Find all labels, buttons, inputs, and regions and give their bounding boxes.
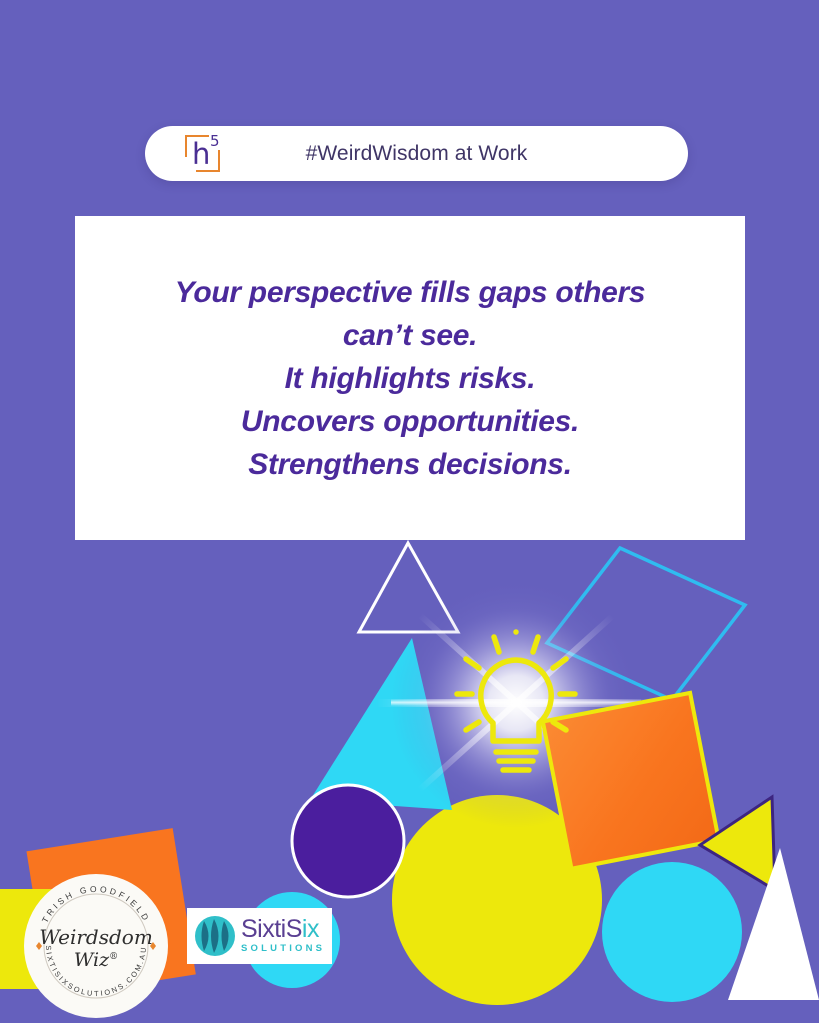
quote-line-1: Your perspective fills gaps others xyxy=(110,271,710,314)
sixtisix-name-tail: ix xyxy=(302,915,319,943)
poster-canvas: h 5 #WeirdWisdom at Work Your perspectiv… xyxy=(0,0,819,1023)
sixtisix-name: SixtiSix xyxy=(241,917,325,942)
cyan-circle xyxy=(602,862,742,1002)
sixtisix-wordmark: SixtiSix SOLUTIONS xyxy=(241,917,325,955)
sixtisix-solutions-logo[interactable]: SixtiSix SOLUTIONS xyxy=(187,908,332,964)
header-pill[interactable]: h 5 #WeirdWisdom at Work xyxy=(145,126,688,181)
sixtisix-name-head: SixtiS xyxy=(241,915,302,943)
badge-script-line-1: Weirdsdom xyxy=(39,925,153,949)
quote-line-4: Uncovers opportunities. xyxy=(110,400,710,443)
sixtisix-wave-icon xyxy=(192,914,238,958)
h5-brand-logo-icon: h 5 xyxy=(183,134,229,174)
sixtisix-subtitle: SOLUTIONS xyxy=(241,943,325,955)
quote-line-5: Strengthens decisions. xyxy=(110,443,710,486)
logo-superscript-5: 5 xyxy=(210,134,220,149)
deep-purple-circle xyxy=(292,785,404,897)
logo-letter-h: h xyxy=(192,136,210,172)
orange-rotated-square xyxy=(543,693,719,869)
quote-text: Your perspective fills gaps others can’t… xyxy=(110,271,710,486)
bulb-glow-ray-v xyxy=(391,699,641,706)
quote-card: Your perspective fills gaps others can’t… xyxy=(75,216,745,540)
quote-line-3: It highlights risks. xyxy=(110,357,710,400)
quote-line-2: can’t see. xyxy=(110,314,710,357)
weirdsdom-wiz-badge[interactable]: TRISH GOODFIELD SIXTISIXSOLUTIONS.COM.AU… xyxy=(22,872,170,1020)
